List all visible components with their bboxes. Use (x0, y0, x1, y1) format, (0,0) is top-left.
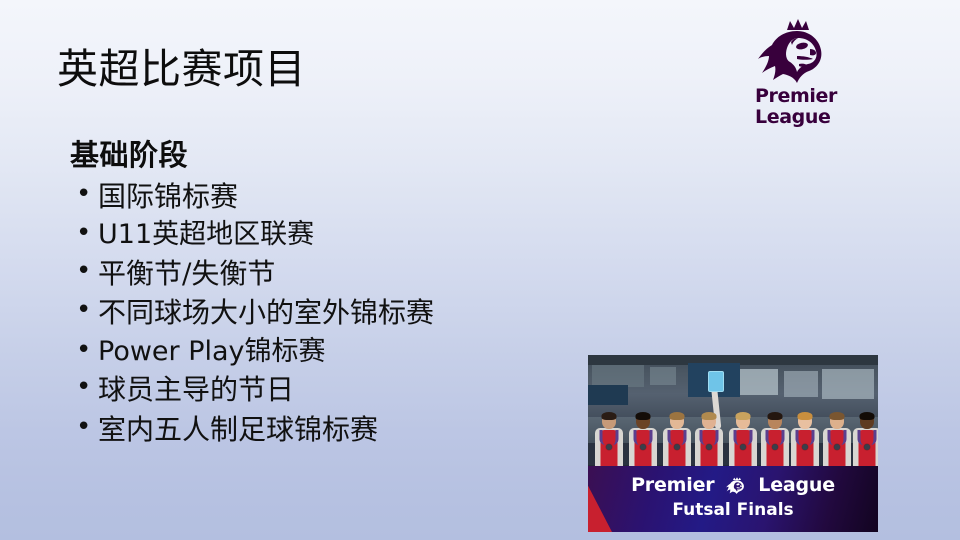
subheading: 基础阶段 (70, 136, 590, 174)
hall-window (592, 365, 644, 387)
banner-title-line: Premier League (588, 474, 878, 496)
hall-window (650, 367, 676, 385)
list-item: 室内五人制足球锦标赛 (70, 410, 590, 449)
list-item: U11英超地区联赛 (70, 216, 590, 254)
list-item: 国际锦标赛 (70, 177, 590, 216)
premier-league-lion-icon (726, 477, 747, 494)
page-title: 英超比赛项目 (57, 45, 306, 93)
list-item: 球员主导的节日 (70, 370, 590, 409)
hall-blue-wall (588, 385, 628, 405)
logo-line-2: League (755, 107, 837, 128)
premier-league-logo: Premier League (745, 18, 850, 134)
logo-line-1: Premier (755, 86, 837, 107)
banner-subtitle: Futsal Finals (588, 500, 878, 520)
list-item: 不同球场大小的室外锦标赛 (70, 293, 590, 332)
bullet-list: 国际锦标赛 U11英超地区联赛 平衡节/失衡节 不同球场大小的室外锦标赛 Pow… (70, 177, 590, 449)
hall-window (784, 371, 818, 397)
slide: 英超比赛项目 基础阶段 国际锦标赛 U11英超地区联赛 平衡节/失衡节 不同球场… (0, 0, 960, 540)
premier-league-lion-icon (757, 18, 837, 86)
banner-word-league: League (758, 474, 835, 496)
futsal-finals-banner: Premier League (588, 466, 878, 532)
content-body: 基础阶段 国际锦标赛 U11英超地区联赛 平衡节/失衡节 不同球场大小的室外锦标… (70, 136, 590, 449)
premier-league-wordmark: Premier League (755, 86, 837, 127)
futsal-finals-photo: Premier League (588, 355, 878, 532)
hall-window (822, 369, 874, 399)
banner-word-premier: Premier (631, 474, 714, 496)
hall-window (738, 369, 778, 395)
list-item: Power Play锦标赛 (70, 333, 590, 371)
phone-icon (708, 371, 724, 392)
list-item: 平衡节/失衡节 (70, 254, 590, 293)
